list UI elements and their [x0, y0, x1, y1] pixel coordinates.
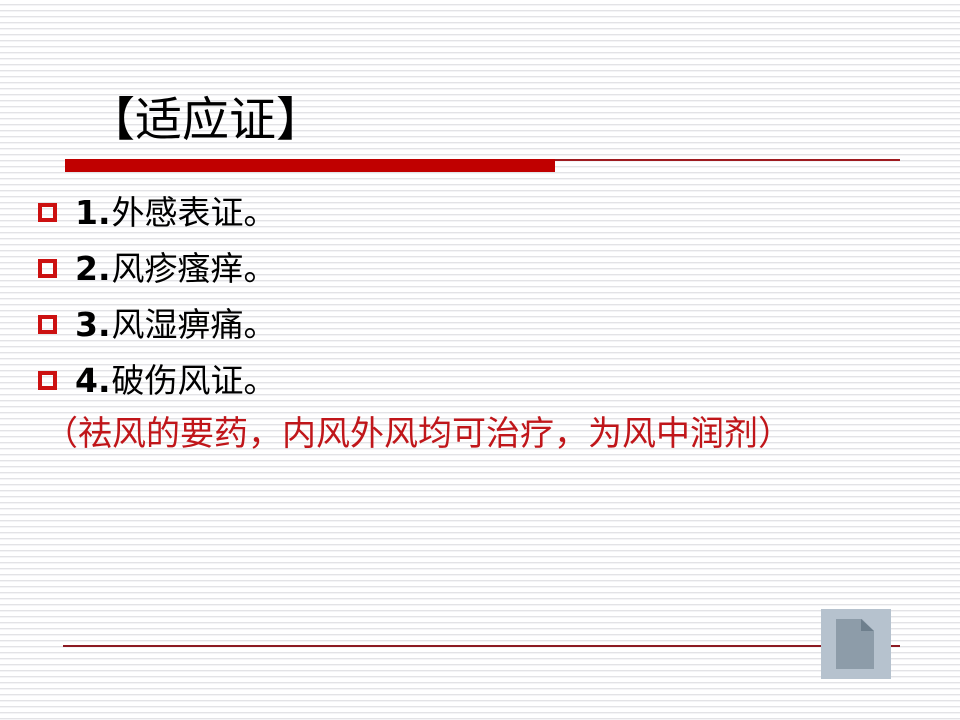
list-item-number: 4. [75, 364, 111, 397]
list-item-label: 外感表证。 [112, 196, 277, 229]
list-item-label: 破伤风证。 [112, 364, 277, 397]
bullet-list: 1. 外感表证。 2. 风疹瘙痒。 3. 风湿痹痛。 4. 破伤风证。 [38, 184, 918, 408]
list-item: 3. 风湿痹痛。 [38, 296, 918, 352]
list-item-number: 3. [75, 308, 111, 341]
title-rule-thin-segment [555, 159, 900, 161]
square-bullet-icon [38, 315, 57, 334]
list-item-number: 1. [75, 196, 111, 229]
slide-title: 【适应证】 [88, 93, 323, 149]
list-item-label: 风湿痹痛。 [112, 308, 277, 341]
title-underline-rule [65, 156, 905, 172]
list-item: 2. 风疹瘙痒。 [38, 240, 918, 296]
list-item-number: 2. [75, 252, 111, 285]
square-bullet-icon [38, 371, 57, 390]
title-rule-thick-segment [65, 159, 555, 172]
footer-divider [63, 645, 900, 647]
list-item: 1. 外感表证。 [38, 184, 918, 240]
presentation-slide: 【适应证】 1. 外感表证。 2. 风疹瘙痒。 3. 风湿痹痛。 4. 破伤风证… [0, 0, 960, 720]
square-bullet-icon [38, 259, 57, 278]
list-item-label: 风疹瘙痒。 [112, 252, 277, 285]
summary-note-text: （祛风的要药，内风外风均可治疗，为风中润剂） [44, 412, 944, 456]
square-bullet-icon [38, 203, 57, 222]
list-item: 4. 破伤风证。 [38, 352, 918, 408]
document-page-icon [821, 609, 891, 679]
